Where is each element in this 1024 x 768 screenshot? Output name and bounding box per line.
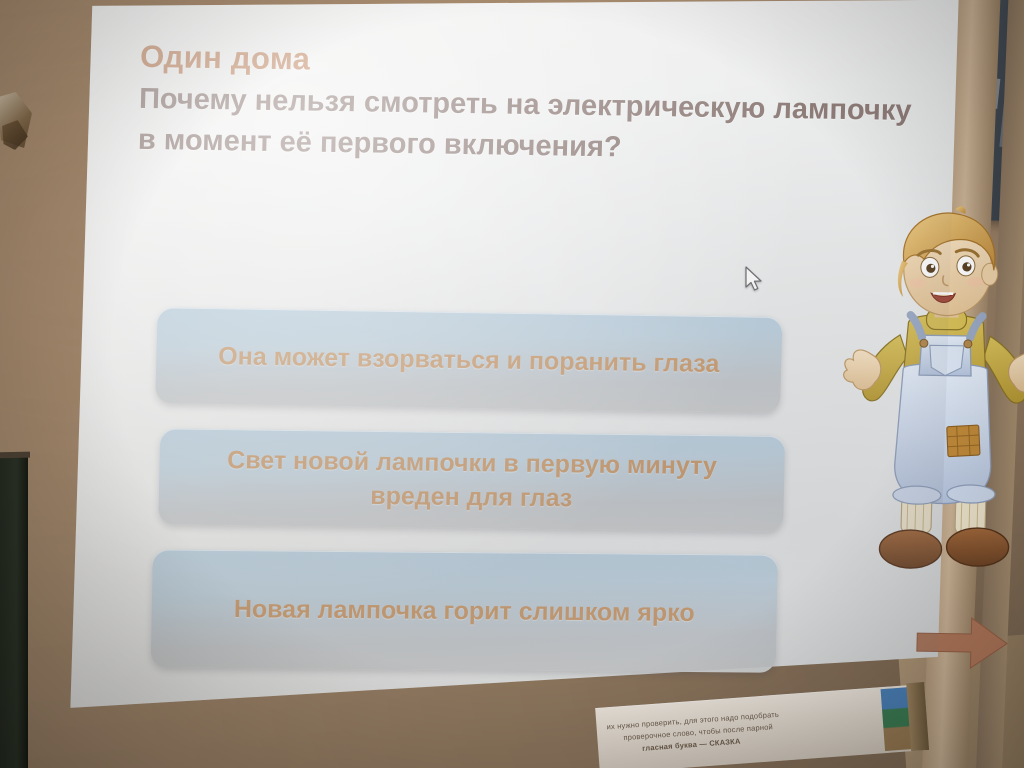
answer-option-2[interactable]: Свет новой лампочки в первую минуту вред…: [158, 428, 785, 532]
slide-content: Один дома Почему нельзя смотреть на элек…: [124, 39, 941, 701]
answer-option-1-label: Она может взорваться и поранить глаза: [218, 339, 720, 381]
answer-option-3[interactable]: Новая лампочка горит слишком ярко: [151, 549, 778, 672]
next-slide-arrow[interactable]: [914, 611, 1012, 674]
answer-option-1[interactable]: Она может взорваться и поранить глаза: [155, 307, 782, 413]
cartoon-boy-illustration: [831, 202, 1024, 605]
chalkboard-edge: [0, 455, 28, 768]
chalkboard-lip: [0, 452, 30, 459]
mouse-pointer-icon: [744, 266, 764, 292]
answer-option-2-label: Свет новой лампочки в первую минуту вред…: [180, 442, 763, 518]
answer-option-3-label: Новая лампочка горит слишком ярко: [234, 592, 695, 631]
slide-question: Почему нельзя смотреть на электрическую …: [137, 79, 929, 174]
projected-slide: Один дома Почему нельзя смотреть на элек…: [64, 0, 964, 760]
answer-list: Она может взорваться и поранить глаза Св…: [148, 307, 783, 699]
screenshot-root: Один дома Почему нельзя смотреть на элек…: [0, 0, 1024, 768]
